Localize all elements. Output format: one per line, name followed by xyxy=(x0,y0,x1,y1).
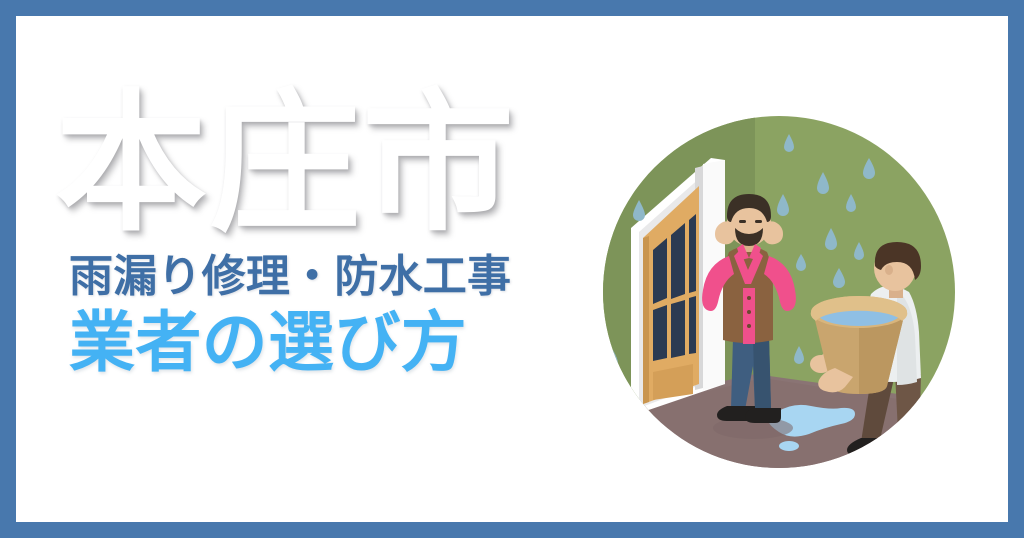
banner-root: 本庄市 雨漏り修理・防水工事 業者の選び方 xyxy=(0,0,1024,538)
door-wood-edge xyxy=(643,236,649,404)
banner-canvas: 本庄市 雨漏り修理・防水工事 業者の選び方 xyxy=(16,16,1008,522)
rain-leak-illustration xyxy=(603,116,955,468)
subtitle-secondary: 業者の選び方 xyxy=(69,306,615,380)
page-title: 本庄市 xyxy=(55,86,615,241)
subtitle-primary: 雨漏り修理・防水工事 xyxy=(69,251,615,302)
headline-text-block: 本庄市 雨漏り修理・防水工事 業者の選び方 xyxy=(55,86,615,380)
